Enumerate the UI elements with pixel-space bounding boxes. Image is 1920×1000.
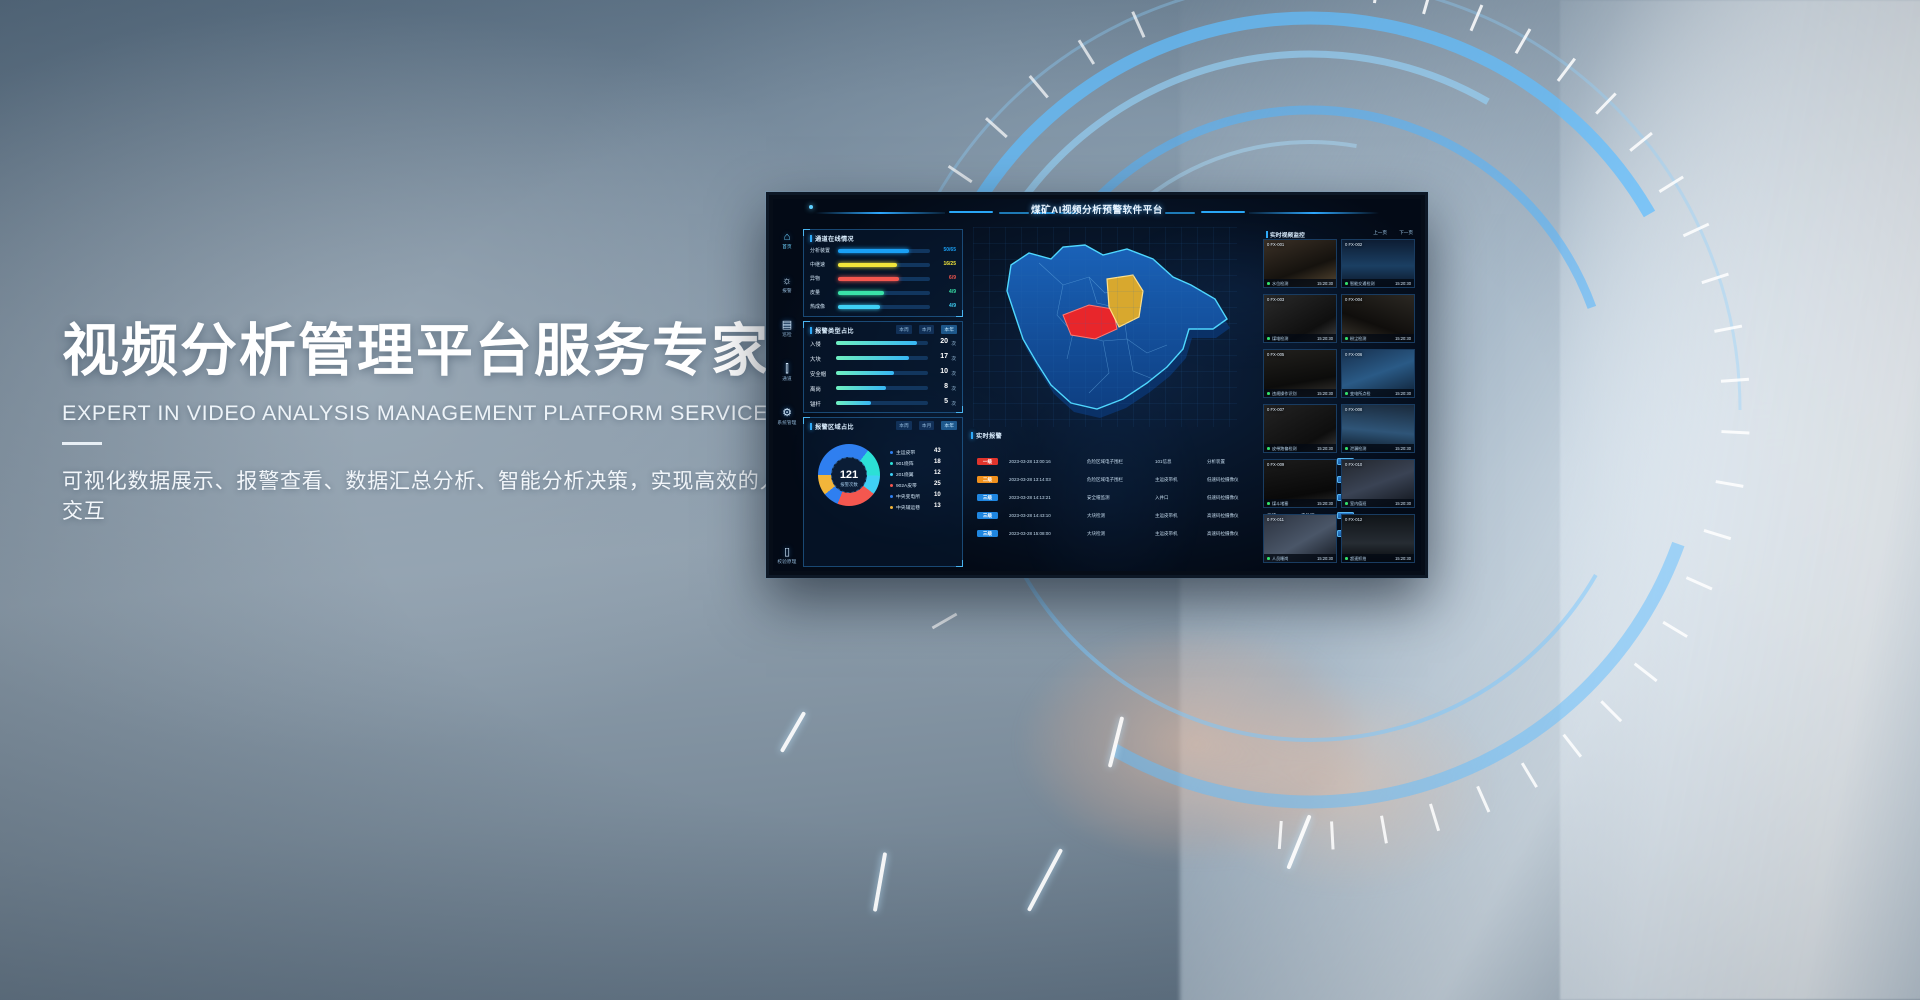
video-camera-id: 0 FX-005 bbox=[1267, 352, 1284, 357]
page-title: 视频分析管理平台服务专家 bbox=[62, 318, 822, 385]
alarm-device: 分析装置 bbox=[1207, 459, 1225, 465]
tab-本月[interactable]: 本月 bbox=[919, 421, 935, 430]
video-camera-name: 粉尘检测 bbox=[1350, 336, 1366, 342]
video-tile-footer: 粉尘检测15:20:30 bbox=[1342, 334, 1414, 342]
video-camera-name: 智能交通检测 bbox=[1350, 281, 1375, 287]
legend-color-dot bbox=[890, 506, 893, 509]
gear-icon: ⚙ bbox=[773, 407, 801, 419]
video-tile[interactable]: 0 FX-001水位检测15:20:30 bbox=[1263, 239, 1337, 288]
video-camera-name: 煤斗堵塞 bbox=[1272, 501, 1288, 507]
channel-progress-fill bbox=[838, 263, 897, 267]
video-camera-id: 0 FX-008 bbox=[1345, 407, 1362, 412]
header-dash-5 bbox=[1201, 211, 1245, 213]
alarm-type-tabs[interactable]: 本周本月本年 bbox=[896, 325, 957, 334]
channel-progress-track bbox=[838, 263, 930, 267]
alarm-area-panel: 报警区域占比 本周本月本年 121 报警次数 主运皮带43901绕阵18201绕… bbox=[803, 417, 963, 567]
video-tile-footer: 室内值班15:20:30 bbox=[1342, 499, 1414, 507]
alarm-device: 高速码拉摄像仪 bbox=[1207, 513, 1239, 519]
video-tile-footer: 煤斗堵塞15:20:30 bbox=[1264, 499, 1336, 507]
legend-label: 中央辅运巷 bbox=[896, 504, 920, 511]
alarm-type-unit: 次 bbox=[951, 401, 956, 407]
sidebar-footer-label: 校验原理 bbox=[773, 559, 801, 565]
video-timestamp: 15:20:30 bbox=[1317, 446, 1333, 451]
channel-progress-fill bbox=[838, 291, 884, 295]
video-tile-footer: 变电所点检15:20:30 bbox=[1342, 389, 1414, 397]
alarm-type: 危险区域电子围栏 bbox=[1087, 477, 1123, 483]
donut-center-value: 121 bbox=[832, 469, 866, 481]
legend-item: 中央辅运巷13 bbox=[890, 503, 958, 512]
tab-本年[interactable]: 本年 bbox=[941, 325, 957, 334]
alarm-type-track bbox=[836, 371, 928, 375]
alarm-type-unit: 次 bbox=[951, 341, 956, 347]
video-camera-id: 0 FX-006 bbox=[1345, 352, 1362, 357]
video-tile-footer: 水位检测15:20:30 bbox=[1264, 279, 1336, 287]
video-timestamp: 15:20:30 bbox=[1317, 501, 1333, 506]
alarm-type-fill bbox=[836, 371, 894, 375]
header-line-left bbox=[815, 212, 945, 214]
video-timestamp: 15:20:30 bbox=[1317, 556, 1333, 561]
video-camera-id: 0 FX-002 bbox=[1345, 242, 1362, 247]
alarm-type-panel: 报警类型占比 本周本月本年 入侵20次大块17次安全帽10次离岗8次锚杆5次 bbox=[803, 321, 963, 413]
video-tile[interactable]: 0 FX-009煤斗堵塞15:20:30 bbox=[1263, 459, 1337, 508]
legend-color-dot bbox=[890, 462, 893, 465]
tab-本周[interactable]: 本周 bbox=[896, 325, 912, 334]
video-tile-footer: 煤堆检测15:20:30 bbox=[1264, 334, 1336, 342]
alarm-icon: ☼ bbox=[773, 275, 801, 287]
channel-row: 热成像4/9 bbox=[810, 302, 956, 311]
alarm-area: 主运皮带机 bbox=[1155, 531, 1178, 537]
legend-color-dot bbox=[890, 484, 893, 487]
legend-item: 中央变电所10 bbox=[890, 492, 958, 501]
online-status-dot bbox=[1345, 337, 1348, 340]
sidebar-item-1[interactable]: ⌂首页 bbox=[773, 231, 801, 250]
header-dot bbox=[809, 205, 813, 209]
video-tile-footer: 智能交通检测15:20:30 bbox=[1342, 279, 1414, 287]
channel-value: 6/9 bbox=[949, 275, 956, 281]
channel-row: 中继速16/25 bbox=[810, 260, 956, 269]
video-tile[interactable]: 0 FX-004粉尘检测15:20:30 bbox=[1341, 294, 1415, 343]
alarm-time: 2023-03-28 13:00:16 bbox=[1009, 459, 1051, 464]
online-status-dot bbox=[1345, 557, 1348, 560]
video-tile[interactable]: 0 FX-012超速抓拍15:20:30 bbox=[1341, 514, 1415, 563]
alarm-type-track bbox=[836, 401, 928, 405]
legend-value: 43 bbox=[934, 448, 941, 454]
channel-progress-fill bbox=[838, 249, 909, 253]
video-tile-footer: 人员睡岗15:20:30 bbox=[1264, 554, 1336, 562]
video-camera-id: 0 FX-010 bbox=[1345, 462, 1362, 467]
video-camera-id: 0 FX-012 bbox=[1345, 517, 1362, 522]
monitor-frame: 煤矿AI视频分析预警软件平台 ⌂首页☼报警▤巡检⫿通道⚙系统管理▯校验原理 通道… bbox=[766, 192, 1428, 578]
video-timestamp: 15:20:30 bbox=[1395, 556, 1411, 561]
legend-label: 中央变电所 bbox=[896, 493, 920, 500]
legend-item: 901绕阵18 bbox=[890, 459, 958, 468]
dashboard-screen: 煤矿AI视频分析预警软件平台 ⌂首页☼报警▤巡检⫿通道⚙系统管理▯校验原理 通道… bbox=[773, 199, 1421, 571]
video-camera-name: 水位检测 bbox=[1272, 281, 1288, 287]
alarm-type-row: 入侵20次 bbox=[810, 338, 956, 348]
online-status-dot bbox=[1345, 502, 1348, 505]
doc-icon: ▯ bbox=[773, 546, 801, 558]
tab-本年[interactable]: 本年 bbox=[941, 421, 957, 430]
online-status-dot bbox=[1267, 392, 1270, 395]
alarm-type-unit: 次 bbox=[951, 371, 956, 377]
hero-description: 可视化数据展示、报警查看、数据汇总分析、智能分析决策，实现高效的人机交互 bbox=[62, 465, 822, 525]
video-timestamp: 15:20:30 bbox=[1395, 446, 1411, 451]
home-icon: ⌂ bbox=[773, 231, 801, 243]
status-badge: 三级 bbox=[977, 494, 998, 502]
video-tile[interactable]: 0 FX-006变电所点检15:20:30 bbox=[1341, 349, 1415, 398]
video-tile[interactable]: 0 FX-005违规操作识别15:20:30 bbox=[1263, 349, 1337, 398]
sidebar-item-label: 首页 bbox=[773, 244, 801, 250]
online-status-dot bbox=[1267, 502, 1270, 505]
header-dash-1 bbox=[949, 211, 993, 213]
video-camera-id: 0 FX-003 bbox=[1267, 297, 1284, 302]
video-timestamp: 15:20:30 bbox=[1317, 336, 1333, 341]
video-tile-footer: 违规操作识别15:20:30 bbox=[1264, 389, 1336, 397]
channel-panel-title: 通道在线情况 bbox=[810, 234, 854, 243]
channel-value: 4/9 bbox=[949, 289, 956, 295]
legend-label: 902A皮带 bbox=[896, 482, 917, 489]
video-prev-page-button[interactable]: 上一页 bbox=[1373, 230, 1387, 236]
channel-status-panel: 通道在线情况 分析装置50/65中继速16/25异物6/9皮量4/9热成像4/9 bbox=[803, 229, 963, 317]
video-timestamp: 15:20:30 bbox=[1395, 391, 1411, 396]
sidebar: ⌂首页☼报警▤巡检⫿通道⚙系统管理▯校验原理 bbox=[773, 223, 801, 571]
video-tile[interactable]: 0 FX-010室内值班15:20:30 bbox=[1341, 459, 1415, 508]
sidebar-item-label: 通道 bbox=[773, 376, 801, 382]
channel-value: 16/25 bbox=[943, 261, 956, 267]
channel-progress-track bbox=[838, 249, 930, 253]
video-camera-id: 0 FX-009 bbox=[1267, 462, 1284, 467]
alarm-type-track bbox=[836, 341, 928, 345]
video-tile[interactable]: 0 FX-002智能交通检测15:20:30 bbox=[1341, 239, 1415, 288]
sidebar-item-4[interactable]: ⫿通道 bbox=[773, 363, 801, 382]
video-panel-title: 实时视频监控 bbox=[1266, 230, 1305, 239]
alarm-type-fill bbox=[836, 356, 909, 360]
region-map[interactable] bbox=[973, 227, 1237, 427]
channel-value: 4/9 bbox=[949, 303, 956, 309]
online-status-dot bbox=[1267, 557, 1270, 560]
alarm-type-label: 安全帽 bbox=[810, 370, 826, 378]
legend-value: 18 bbox=[934, 459, 941, 465]
channel-row: 异物6/9 bbox=[810, 274, 956, 283]
donut-center-caption: 报警次数 bbox=[832, 482, 866, 488]
alarm-time: 2023-03-28 15:08:00 bbox=[1009, 531, 1051, 536]
legend-item: 201绕翼12 bbox=[890, 470, 958, 479]
status-badge: 三级 bbox=[977, 530, 998, 538]
alarm-area-tabs[interactable]: 本周本月本年 bbox=[896, 421, 957, 430]
channel-value: 50/65 bbox=[943, 247, 956, 253]
tab-本周[interactable]: 本周 bbox=[896, 421, 912, 430]
video-tile[interactable]: 0 FX-003煤堆检测15:20:30 bbox=[1263, 294, 1337, 343]
sidebar-item-5[interactable]: ⚙系统管理 bbox=[773, 407, 801, 426]
online-status-dot bbox=[1267, 337, 1270, 340]
alarm-type-track bbox=[836, 386, 928, 390]
alarm-type: 危险区域电子围栏 bbox=[1087, 459, 1123, 465]
alarm-type-label: 锚杆 bbox=[810, 400, 821, 408]
channel-progress-fill bbox=[838, 305, 880, 309]
alarm-type-value: 10 bbox=[940, 368, 948, 375]
video-timestamp: 15:20:30 bbox=[1317, 391, 1333, 396]
alarm-device: 高速码拉摄像仪 bbox=[1207, 531, 1239, 537]
status-badge: 一级 bbox=[977, 458, 998, 466]
video-timestamp: 15:20:30 bbox=[1395, 336, 1411, 341]
channel-progress-track bbox=[838, 277, 930, 281]
donut-hole: 121 报警次数 bbox=[831, 457, 867, 493]
legend-item: 902A皮带25 bbox=[890, 481, 958, 490]
legend-color-dot bbox=[890, 495, 893, 498]
channel-row: 皮量4/9 bbox=[810, 288, 956, 297]
online-status-dot bbox=[1345, 392, 1348, 395]
alarm-type-unit: 次 bbox=[951, 386, 956, 392]
channel-progress-track bbox=[838, 305, 930, 309]
realtime-alarm-title: 实时报警 bbox=[971, 431, 1002, 440]
video-camera-id: 0 FX-001 bbox=[1267, 242, 1284, 247]
alarm-type-row: 离岗8次 bbox=[810, 383, 956, 393]
video-tile[interactable]: 0 FX-011人员睡岗15:20:30 bbox=[1263, 514, 1337, 563]
online-status-dot bbox=[1345, 282, 1348, 285]
sidebar-item-3[interactable]: ▤巡检 bbox=[773, 319, 801, 338]
video-tile-footer: 皮带跑偏检测15:20:30 bbox=[1264, 444, 1336, 452]
hero-divider bbox=[62, 442, 102, 445]
dashboard-header: 煤矿AI视频分析预警软件平台 bbox=[773, 199, 1421, 225]
video-camera-name: 煤堆检测 bbox=[1272, 336, 1288, 342]
alarm-type-value: 5 bbox=[944, 398, 948, 405]
channel-label: 异物 bbox=[810, 275, 836, 282]
alarm-time: 2023-03-28 14:13:21 bbox=[1009, 495, 1051, 500]
alarm-type-fill bbox=[836, 386, 886, 390]
video-timestamp: 15:20:30 bbox=[1395, 501, 1411, 506]
alarm-type-label: 离岗 bbox=[810, 385, 821, 393]
channel-label: 热成像 bbox=[810, 303, 836, 310]
alarm-type-row: 大块17次 bbox=[810, 353, 956, 363]
alarm-type-row: 安全帽10次 bbox=[810, 368, 956, 378]
video-camera-id: 0 FX-007 bbox=[1267, 407, 1284, 412]
alarm-device: 低速码拉摄像仪 bbox=[1207, 477, 1239, 483]
alarm-type-track bbox=[836, 356, 928, 360]
tab-本月[interactable]: 本月 bbox=[919, 325, 935, 334]
channel-label: 皮量 bbox=[810, 289, 836, 296]
map-grid bbox=[973, 227, 1237, 427]
video-camera-name: 违规操作识别 bbox=[1272, 391, 1297, 397]
alarm-type: 安全帽监测 bbox=[1087, 495, 1110, 501]
video-camera-id: 0 FX-004 bbox=[1345, 297, 1362, 302]
alarm-type-label: 入侵 bbox=[810, 340, 821, 348]
alarm-type: 大块检测 bbox=[1087, 531, 1105, 537]
header-dash-6 bbox=[1165, 212, 1195, 214]
video-timestamp: 15:20:30 bbox=[1395, 281, 1411, 286]
alarm-area-donut-chart: 121 报警次数 bbox=[818, 444, 880, 506]
legend-color-dot bbox=[890, 473, 893, 476]
alarm-type-panel-title: 报警类型占比 bbox=[810, 326, 854, 335]
alarm-type-label: 大块 bbox=[810, 355, 821, 363]
video-camera-name: 人员睡岗 bbox=[1272, 556, 1288, 562]
video-tile[interactable]: 0 FX-007皮带跑偏检测15:20:30 bbox=[1263, 404, 1337, 453]
alarm-area: 主运皮带机 bbox=[1155, 477, 1178, 483]
legend-label: 主运皮带 bbox=[896, 449, 915, 456]
alarm-type-value: 17 bbox=[940, 353, 948, 360]
legend-value: 10 bbox=[934, 492, 941, 498]
hero-subtitle: EXPERT IN VIDEO ANALYSIS MANAGEMENT PLAT… bbox=[62, 401, 822, 426]
video-tile-footer: 超速抓拍15:20:30 bbox=[1342, 554, 1414, 562]
header-line-right bbox=[1249, 212, 1379, 214]
channel-row: 分析装置50/65 bbox=[810, 246, 956, 255]
channel-icon: ⫿ bbox=[773, 363, 801, 375]
alarm-type-value: 8 bbox=[944, 383, 948, 390]
hero-text-block: 视频分析管理平台服务专家 EXPERT IN VIDEO ANALYSIS MA… bbox=[62, 318, 822, 525]
video-tile-footer: 泄漏检测15:20:30 bbox=[1342, 444, 1414, 452]
alarm-type-fill bbox=[836, 341, 917, 345]
video-monitor-panel: 实时视频监控 上一页 下一页 0 FX-001水位检测15:20:300 FX-… bbox=[1261, 227, 1417, 567]
alarm-type-unit: 次 bbox=[951, 356, 956, 362]
video-camera-name: 超速抓拍 bbox=[1350, 556, 1366, 562]
alarm-area: 主运皮带机 bbox=[1155, 513, 1178, 519]
alarm-type-value: 20 bbox=[940, 338, 948, 345]
video-camera-id: 0 FX-011 bbox=[1267, 517, 1284, 522]
status-badge: 二级 bbox=[977, 476, 998, 484]
sidebar-item-2[interactable]: ☼报警 bbox=[773, 275, 801, 294]
sidebar-footer-item[interactable]: ▯校验原理 bbox=[773, 546, 801, 565]
online-status-dot bbox=[1345, 447, 1348, 450]
online-status-dot bbox=[1267, 447, 1270, 450]
dashboard-title: 煤矿AI视频分析预警软件平台 bbox=[1031, 202, 1163, 216]
legend-color-dot bbox=[890, 451, 893, 454]
video-timestamp: 15:20:30 bbox=[1317, 281, 1333, 286]
channel-label: 中继速 bbox=[810, 261, 836, 268]
alarm-type-fill bbox=[836, 401, 871, 405]
legend-item: 主运皮带43 bbox=[890, 448, 958, 457]
inspection-icon: ▤ bbox=[773, 319, 801, 331]
sidebar-item-label: 系统管理 bbox=[773, 420, 801, 426]
legend-label: 201绕翼 bbox=[896, 471, 914, 478]
video-next-page-button[interactable]: 下一页 bbox=[1399, 230, 1413, 236]
legend-value: 25 bbox=[934, 481, 941, 487]
alarm-time: 2023-03-28 13:14:03 bbox=[1009, 477, 1051, 482]
video-camera-name: 变电所点检 bbox=[1350, 391, 1370, 397]
legend-value: 12 bbox=[934, 470, 941, 476]
channel-progress-fill bbox=[838, 277, 899, 281]
video-tile[interactable]: 0 FX-008泄漏检测15:20:30 bbox=[1341, 404, 1415, 453]
header-dash-2 bbox=[999, 212, 1029, 214]
alarm-time: 2023-03-28 14:43:10 bbox=[1009, 513, 1051, 518]
legend-value: 13 bbox=[934, 503, 941, 509]
alarm-area-panel-title: 报警区域占比 bbox=[810, 422, 854, 431]
legend-label: 901绕阵 bbox=[896, 460, 914, 467]
alarm-area: 101信息 bbox=[1155, 459, 1172, 465]
channel-label: 分析装置 bbox=[810, 247, 836, 254]
alarm-device: 低速码拉摄像仪 bbox=[1207, 495, 1239, 501]
alarm-type: 大块检测 bbox=[1087, 513, 1105, 519]
sidebar-item-label: 报警 bbox=[773, 288, 801, 294]
alarm-type-row: 锚杆5次 bbox=[810, 398, 956, 408]
online-status-dot bbox=[1267, 282, 1270, 285]
video-camera-name: 泄漏检测 bbox=[1350, 446, 1366, 452]
channel-progress-track bbox=[838, 291, 930, 295]
video-camera-name: 室内值班 bbox=[1350, 501, 1366, 507]
status-badge: 三级 bbox=[977, 512, 998, 520]
alarm-area: 入井口 bbox=[1155, 495, 1169, 501]
video-camera-name: 皮带跑偏检测 bbox=[1272, 446, 1297, 452]
sidebar-item-label: 巡检 bbox=[773, 332, 801, 338]
